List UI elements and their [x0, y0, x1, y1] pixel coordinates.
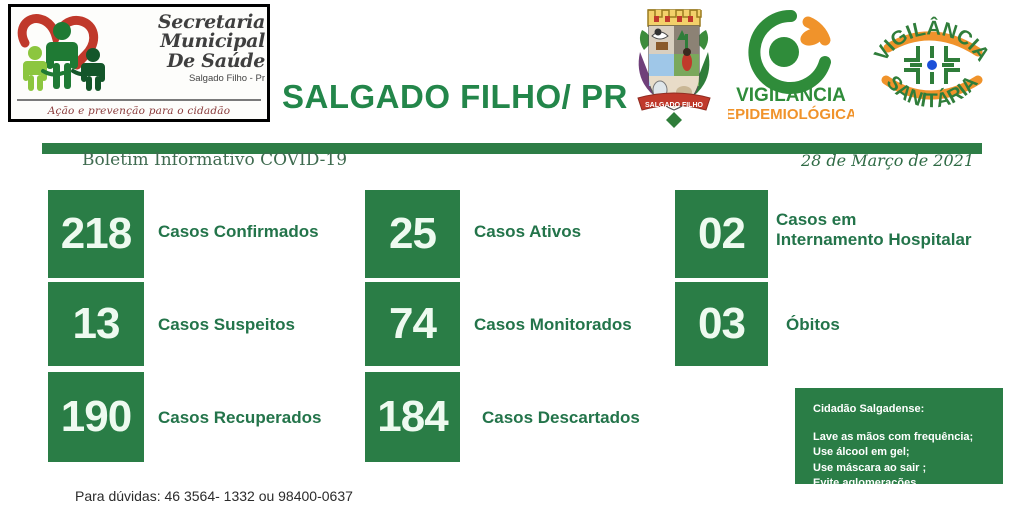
- stat-box-casos-monitorados: 74: [365, 282, 460, 366]
- secretaria-city-label: Salgado Filho - Pr: [133, 74, 265, 84]
- vig-epi-line-1: VIGILÂNCIA: [736, 84, 846, 106]
- stat-value: 184: [377, 395, 447, 439]
- guidance-item: Use máscara ao sair ;: [813, 461, 1003, 477]
- vigilancia-sanitaria-logo-icon: VIGILÂNCIA SANITÁRIA: [862, 4, 1002, 128]
- stat-label-casos-confirmados: Casos Confirmados: [158, 222, 319, 242]
- secretaria-logo-text: Secretaria Municipal De Saúde Salgado Fi…: [133, 13, 265, 84]
- stat-value: 02: [698, 212, 745, 256]
- stat-value: 03: [698, 302, 745, 346]
- secretaria-line-2: Municipal: [133, 32, 265, 51]
- secretaria-line-3: De Saúde: [133, 52, 265, 71]
- coat-of-arms-banner-text: SALGADO FILHO: [645, 102, 703, 109]
- bulletin-date: 28 de Março de 2021: [801, 151, 974, 170]
- stat-value: 25: [389, 212, 436, 256]
- vigilancia-epidemiologica-logo-icon: VIGILÂNCIA EPIDEMIOLÓGICA: [728, 8, 854, 126]
- covid-bulletin-infographic: Secretaria Municipal De Saúde Salgado Fi…: [0, 0, 1024, 512]
- stat-label-casos-ativos: Casos Ativos: [474, 222, 581, 242]
- family-heart-health-logo-icon: [15, 9, 137, 97]
- stat-label-casos-monitorados: Casos Monitorados: [474, 315, 632, 335]
- coat-of-arms-icon: SALGADO FILHO: [632, 4, 716, 128]
- stat-label-casos-suspeitos: Casos Suspeitos: [158, 315, 295, 335]
- secretaria-slogan: Ação e prevenção para o cidadão: [11, 105, 267, 117]
- guidance-item: Use álcool em gel;: [813, 445, 1003, 461]
- stat-value: 218: [61, 212, 131, 256]
- footer-contact: Para dúvidas: 46 3564- 1332 ou 98400-063…: [75, 488, 353, 504]
- guidance-item: Evite aglomerações.: [813, 476, 1003, 492]
- header: Secretaria Municipal De Saúde Salgado Fi…: [0, 0, 1024, 140]
- stat-box-casos-suspeitos: 13: [48, 282, 144, 366]
- stat-box-casos-descartados: 184: [365, 372, 460, 462]
- stat-box-obitos: 03: [675, 282, 768, 366]
- guidance-box: Cidadão Salgadense: Lave as mãos com fre…: [795, 388, 1003, 484]
- stat-box-casos-confirmados: 218: [48, 190, 144, 278]
- vig-epi-line-2: EPIDEMIOLÓGICA: [728, 105, 854, 123]
- stat-box-casos-recuperados: 190: [48, 372, 144, 462]
- page-title: SALGADO FILHO/ PR: [282, 78, 628, 116]
- stat-value: 190: [61, 395, 131, 439]
- stat-label-internamento-hospitalar: Casos em Internamento Hospitalar: [776, 210, 972, 250]
- stat-box-internamento-hospitalar: 02: [675, 190, 768, 278]
- logo-divider: [17, 99, 261, 101]
- stat-value: 74: [389, 302, 436, 346]
- stat-label-casos-descartados: Casos Descartados: [482, 408, 640, 428]
- guidance-heading: Cidadão Salgadense:: [813, 402, 1003, 418]
- stat-box-casos-ativos: 25: [365, 190, 460, 278]
- secretaria-municipal-saude-logo: Secretaria Municipal De Saúde Salgado Fi…: [8, 4, 270, 122]
- stat-label-casos-recuperados: Casos Recuperados: [158, 408, 321, 428]
- guidance-item: Lave as mãos com frequência;: [813, 430, 1003, 446]
- bulletin-title: Boletim Informativo COVID-19: [82, 150, 347, 170]
- stat-label-obitos: Óbitos: [786, 315, 840, 335]
- stat-value: 13: [73, 302, 120, 346]
